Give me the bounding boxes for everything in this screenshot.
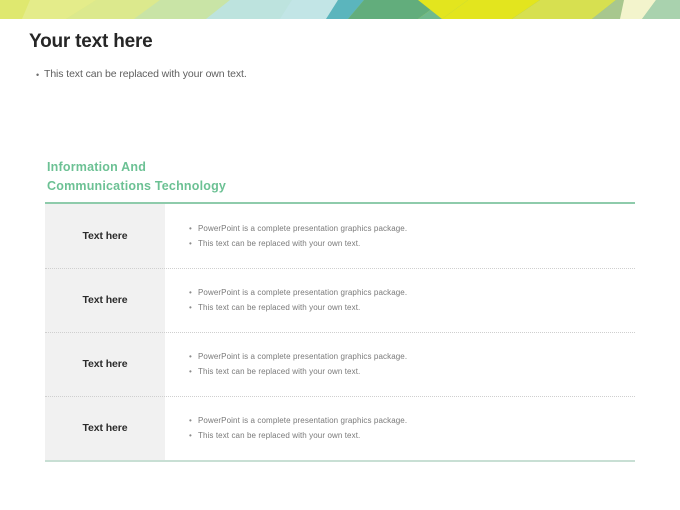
bullet-dot-icon: • [189,430,198,442]
bullet-text: This text can be replaced with your own … [198,366,360,378]
section-heading-line-1: Information And [47,160,146,174]
bullet-line: • PowerPoint is a complete presentation … [189,351,635,363]
bullet-line: • This text can be replaced with your ow… [189,430,635,442]
table-row-body-cell: • PowerPoint is a complete presentation … [165,396,635,460]
table-row-body-cell: • PowerPoint is a complete presentation … [165,204,635,268]
content-table: Text here • PowerPoint is a complete pre… [45,202,635,462]
table-row-label: Text here [82,358,127,370]
table-row-body-cell: • PowerPoint is a complete presentation … [165,268,635,332]
bullet-dot-icon: • [189,366,198,378]
bullet-line: • PowerPoint is a complete presentation … [189,287,635,299]
table-row-label-cell: Text here [45,332,165,396]
title-block: Your text here • This text can be replac… [29,30,639,82]
bullet-line: • This text can be replaced with your ow… [189,238,635,250]
subtitle-text: This text can be replaced with your own … [44,67,247,81]
bullet-dot-icon: • [36,67,44,82]
table-row-label: Text here [82,230,127,242]
bullet-dot-icon: • [189,238,198,250]
table-row[interactable]: Text here • PowerPoint is a complete pre… [45,396,635,460]
table-row[interactable]: Text here • PowerPoint is a complete pre… [45,332,635,396]
bullet-text: PowerPoint is a complete presentation gr… [198,223,407,235]
section-heading: Information And Communications Technolog… [47,158,467,196]
subtitle-row: • This text can be replaced with your ow… [36,67,639,82]
bullet-text: This text can be replaced with your own … [198,430,360,442]
bullet-line: • This text can be replaced with your ow… [189,302,635,314]
page-title: Your text here [29,30,639,54]
bullet-dot-icon: • [189,223,198,235]
bullet-text: PowerPoint is a complete presentation gr… [198,351,407,363]
bullet-dot-icon: • [189,415,198,427]
table-row-label: Text here [82,422,127,434]
table-row-label: Text here [82,294,127,306]
table-row-label-cell: Text here [45,396,165,460]
table-bottom-rule [45,460,635,462]
section-heading-line-2: Communications Technology [47,177,467,196]
bullet-line: • This text can be replaced with your ow… [189,366,635,378]
table-row-body-cell: • PowerPoint is a complete presentation … [165,332,635,396]
bullet-dot-icon: • [189,287,198,299]
bullet-text: PowerPoint is a complete presentation gr… [198,415,407,427]
table-row[interactable]: Text here • PowerPoint is a complete pre… [45,204,635,268]
bullet-line: • PowerPoint is a complete presentation … [189,223,635,235]
decorative-banner [0,0,680,19]
bullet-dot-icon: • [189,351,198,363]
table-row[interactable]: Text here • PowerPoint is a complete pre… [45,268,635,332]
table-row-label-cell: Text here [45,204,165,268]
table-row-label-cell: Text here [45,268,165,332]
polygon-pattern-graphic [0,0,680,19]
bullet-text: This text can be replaced with your own … [198,238,360,250]
bullet-text: PowerPoint is a complete presentation gr… [198,287,407,299]
bullet-line: • PowerPoint is a complete presentation … [189,415,635,427]
bullet-text: This text can be replaced with your own … [198,302,360,314]
bullet-dot-icon: • [189,302,198,314]
